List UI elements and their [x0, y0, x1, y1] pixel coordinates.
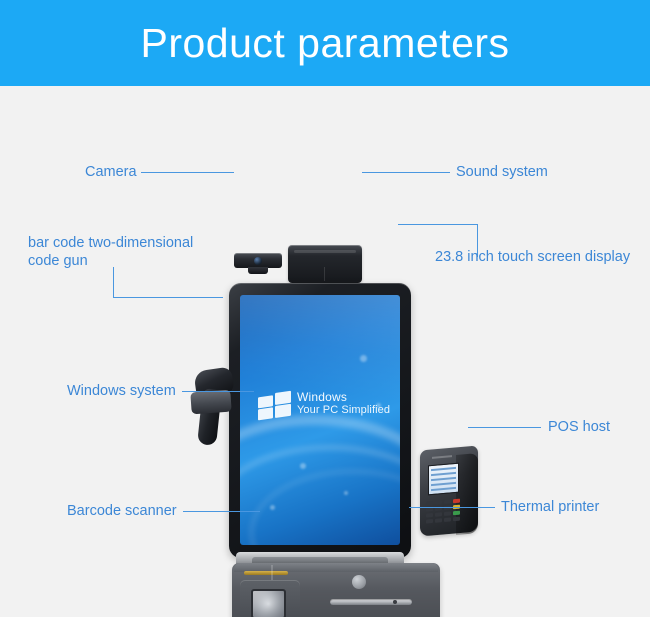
barcode-scanner-window: [251, 589, 286, 617]
pos-key[interactable]: [426, 501, 433, 506]
label-barcode-gun-line1: bar code two-dimensional: [28, 235, 193, 251]
label-sound-system: Sound system: [456, 163, 548, 181]
leader-line-sound-system: [362, 172, 450, 173]
windows-wordmark-group: Windows Your PC Simplified: [297, 391, 390, 417]
product-parameters-infographic: Product parameters: [0, 0, 650, 617]
printer-open-button[interactable]: [352, 575, 366, 589]
page-title: Product parameters: [0, 0, 650, 86]
printer-status-led-icon: [393, 600, 397, 604]
handheld-barcode-gun: [189, 369, 233, 455]
base-gold-strip: [244, 571, 288, 575]
pos-screen-line: [431, 482, 456, 486]
camera-module: [234, 253, 282, 273]
wallpaper-bokeh: [270, 505, 275, 510]
leader-line-windows-system: [182, 391, 254, 392]
leader-line-barcode-gun-horizontal: [113, 297, 223, 298]
pos-key[interactable]: [426, 519, 433, 524]
windows-pane: [258, 407, 273, 420]
windows-logo-group: Windows Your PC Simplified: [258, 391, 390, 419]
leader-line-display-horizontal: [398, 224, 477, 225]
touch-screen-bezel: Windows Your PC Simplified: [229, 283, 411, 558]
pos-screen-line: [431, 467, 456, 471]
windows-flag-icon: [258, 391, 292, 422]
windows-pane: [258, 395, 273, 408]
pos-screen-line: [431, 487, 456, 491]
pos-key-green[interactable]: [453, 511, 460, 516]
pos-host-terminal: [420, 448, 482, 536]
header-banner: Product parameters: [0, 0, 650, 86]
label-thermal-printer: Thermal printer: [501, 498, 599, 516]
pos-key[interactable]: [435, 500, 442, 505]
pos-key-red[interactable]: [453, 499, 460, 504]
pos-screen: [428, 463, 459, 496]
label-touch-screen-display: 23.8 inch touch screen display: [435, 248, 630, 266]
leader-line-barcode-scanner: [183, 511, 260, 512]
pos-key[interactable]: [426, 513, 433, 518]
leader-line-thermal-printer: [409, 507, 495, 508]
pos-key[interactable]: [435, 512, 442, 517]
touch-screen-display: Windows Your PC Simplified: [240, 295, 400, 545]
pos-key[interactable]: [453, 517, 460, 522]
pos-screen-line: [431, 477, 456, 481]
speaker-grille: [294, 250, 356, 253]
label-barcode-gun-line2: code gun: [28, 253, 88, 269]
label-windows-system: Windows system: [67, 382, 176, 400]
thermal-printer-slot: [330, 599, 412, 605]
label-barcode-gun: bar code two-dimensional code gun: [28, 234, 203, 270]
wallpaper-bokeh: [300, 463, 306, 469]
windows-pane: [275, 391, 291, 405]
windows-brand-text: Windows: [297, 391, 390, 404]
leader-line-pos-host: [468, 427, 541, 428]
pos-key[interactable]: [444, 499, 451, 504]
pos-key[interactable]: [444, 511, 451, 516]
label-camera: Camera: [85, 163, 137, 181]
camera-mount-clip: [248, 267, 268, 274]
windows-tagline-text: Your PC Simplified: [297, 404, 390, 417]
pos-key[interactable]: [444, 517, 451, 522]
sound-system-module: [288, 245, 362, 283]
leader-line-camera: [141, 172, 234, 173]
speaker-seam: [324, 267, 325, 281]
pos-keypad[interactable]: [426, 498, 462, 527]
camera-lens-icon: [254, 257, 262, 265]
gun-holster: [190, 390, 231, 415]
windows-pane: [275, 404, 291, 418]
label-barcode-scanner: Barcode scanner: [67, 502, 177, 520]
pos-screen-line: [431, 472, 456, 476]
pos-key[interactable]: [435, 518, 442, 523]
leader-line-barcode-gun-vertical: [113, 267, 114, 297]
product-diagram: Windows Your PC Simplified: [0, 86, 650, 617]
wallpaper-bokeh: [344, 491, 348, 495]
label-pos-host: POS host: [548, 418, 610, 436]
